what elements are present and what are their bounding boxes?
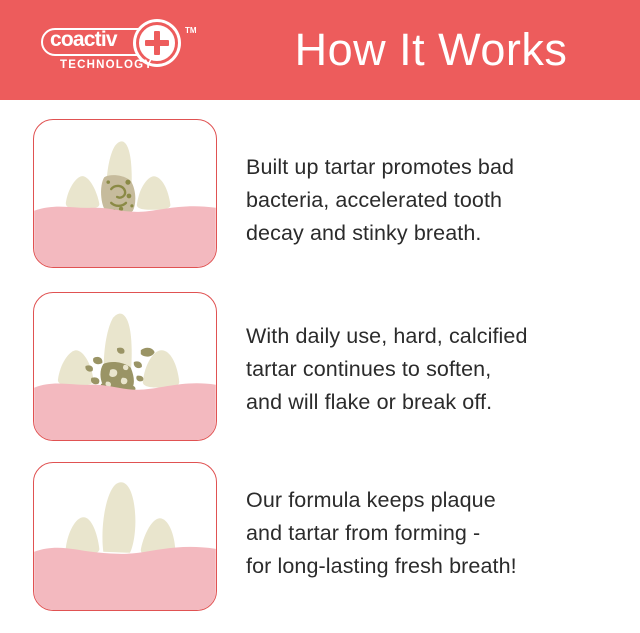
- caption-line: for long-lasting fresh breath!: [246, 550, 616, 583]
- caption-line: decay and stinky breath.: [246, 217, 616, 250]
- illustration-card-tartar-flaking: [33, 292, 217, 441]
- list-item: Our formula keeps plaque and tartar from…: [0, 462, 640, 612]
- step-caption: With daily use, hard, calcified tartar c…: [246, 320, 616, 419]
- how-it-works-infographic: coactiv TM TECHNOLOGY How It Works: [0, 0, 640, 633]
- steps-list: Built up tartar promotes bad bacteria, a…: [0, 100, 640, 633]
- caption-line: With daily use, hard, calcified: [246, 320, 616, 353]
- caption-line: tartar continues to soften,: [246, 353, 616, 386]
- logo-wordmark: coactiv: [50, 29, 117, 51]
- plus-icon: [136, 22, 178, 64]
- caption-line: and tartar from forming -: [246, 517, 616, 550]
- caption-line: bacteria, accelerated tooth: [246, 184, 616, 217]
- caption-line: Built up tartar promotes bad: [246, 151, 616, 184]
- caption-line: Our formula keeps plaque: [246, 484, 616, 517]
- coactiv-logo: coactiv TM TECHNOLOGY: [38, 26, 213, 76]
- caption-line: and will flake or break off.: [246, 386, 616, 419]
- list-item: With daily use, hard, calcified tartar c…: [0, 292, 640, 442]
- clean-healthy-teeth-icon: [34, 463, 216, 610]
- page-title: How It Works: [236, 10, 626, 90]
- illustration-card-clean-teeth: [33, 462, 217, 611]
- illustration-card-tartar-buildup: [33, 119, 217, 268]
- teeth-with-tartar-buildup-icon: [34, 120, 216, 267]
- step-caption: Our formula keeps plaque and tartar from…: [246, 484, 616, 583]
- trademark-symbol: TM: [185, 26, 197, 35]
- logo-subtitle: TECHNOLOGY: [60, 59, 153, 71]
- list-item: Built up tartar promotes bad bacteria, a…: [0, 119, 640, 269]
- teeth-with-tartar-flaking-icon: [34, 293, 216, 440]
- header-banner: coactiv TM TECHNOLOGY How It Works: [0, 0, 640, 100]
- step-caption: Built up tartar promotes bad bacteria, a…: [246, 151, 616, 250]
